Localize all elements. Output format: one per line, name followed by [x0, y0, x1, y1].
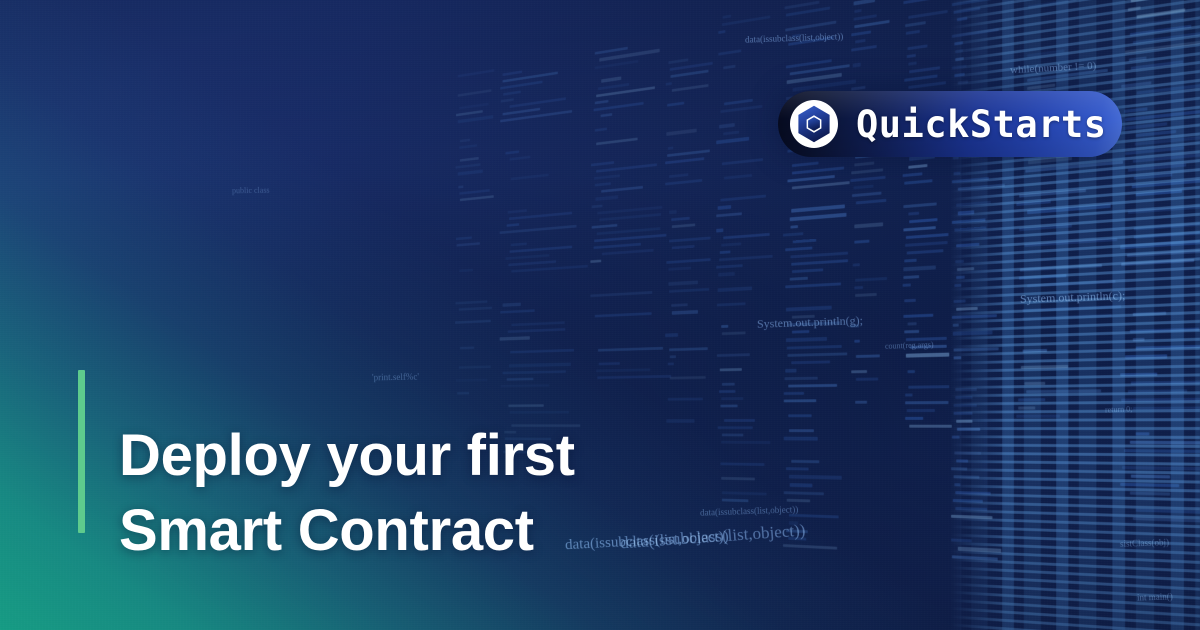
quickstarts-badge-label: QuickStarts [856, 106, 1107, 143]
banner-canvas: data(issubclass(list,object))while(numbe… [0, 0, 1200, 630]
page-title-line-1: Deploy your first [119, 418, 759, 493]
chainlink-hexagon-icon [790, 100, 838, 148]
page-title-line-2: Smart Contract [119, 493, 759, 568]
quickstarts-badge: QuickStarts [778, 91, 1122, 157]
headline-accent-bar [78, 370, 85, 533]
page-title: Deploy your first Smart Contract [119, 418, 759, 568]
